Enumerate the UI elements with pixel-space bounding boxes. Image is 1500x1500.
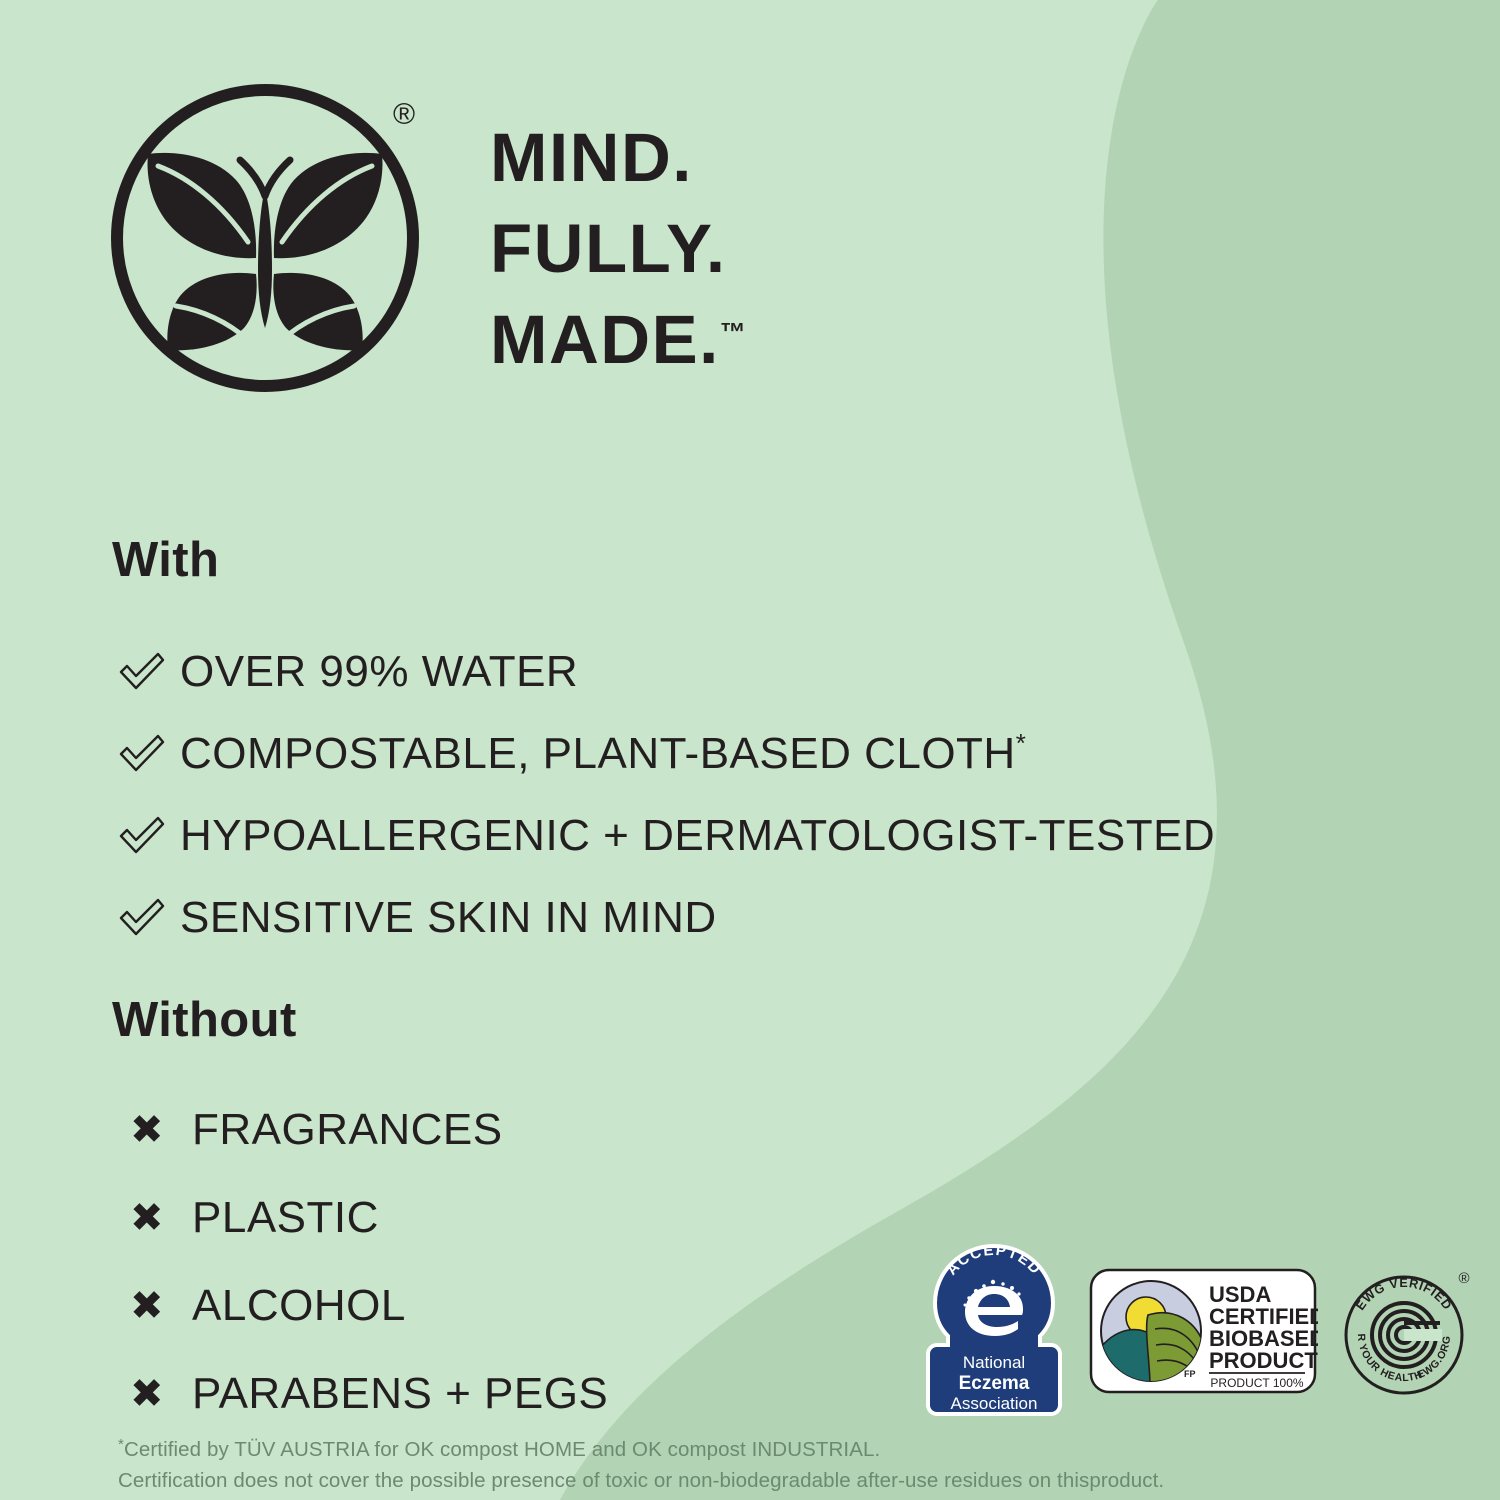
outline-check-icon <box>118 731 180 775</box>
list-item: OVER 99% WATER <box>118 630 1215 712</box>
list-item: ✖ PLASTIC <box>130 1174 608 1262</box>
x-mark-icon: ✖ <box>130 1110 192 1150</box>
headline-line-3-text: MADE. <box>490 301 720 378</box>
trademark-icon: ™ <box>720 317 746 347</box>
x-mark-icon: ✖ <box>130 1286 192 1326</box>
footnote-line-2: Certification does not cover the possibl… <box>118 1465 1164 1496</box>
outline-check-icon <box>118 813 180 857</box>
footnote-line-1: *Certified by TÜV AUSTRIA for OK compost… <box>118 1434 1164 1465</box>
promo-graphic: ® MIND. FULLY. MADE.™ With OVER 99% WATE… <box>0 0 1500 1500</box>
list-item-label: FRAGRANCES <box>192 1108 503 1152</box>
usda-certified-biobased-product-seal: FP USDA CERTIFIED BIOBASED PRODUCT PRODU… <box>1088 1267 1318 1395</box>
registered-trademark-icon: ® <box>1458 1270 1469 1287</box>
svg-text:Eczema: Eczema <box>959 1373 1030 1394</box>
national-eczema-association-seal: ACCEPTED National Eczema Association <box>918 1243 1070 1418</box>
with-list: OVER 99% WATER COMPOSTABLE, PLANT-BASED … <box>118 630 1215 958</box>
brand-lockup: ® MIND. FULLY. MADE.™ <box>110 70 746 410</box>
without-list: ✖ FRAGRANCES ✖ PLASTIC ✖ ALCOHOL ✖ PARAB… <box>130 1086 608 1438</box>
list-item-label: OVER 99% WATER <box>180 648 578 694</box>
headline-line-3: MADE.™ <box>490 294 746 385</box>
with-title: With <box>112 536 219 585</box>
x-mark-icon: ✖ <box>130 1374 192 1414</box>
list-item-label: PLASTIC <box>192 1196 379 1240</box>
svg-text:Association: Association <box>951 1394 1038 1413</box>
list-item: SENSITIVE SKIN IN MIND <box>118 876 1215 958</box>
list-item-label: HYPOALLERGENIC + DERMATOLOGIST-TESTED <box>180 812 1215 858</box>
footnote: *Certified by TÜV AUSTRIA for OK compost… <box>118 1434 1164 1496</box>
headline-line-2: FULLY. <box>490 203 746 294</box>
certification-badges: ACCEPTED National Eczema Association <box>918 1243 1476 1418</box>
svg-text:EWG VERIFIED: EWG VERIFIED <box>1353 1275 1455 1312</box>
registered-trademark-icon: ® <box>393 100 415 130</box>
with-section-heading: With <box>112 536 219 585</box>
svg-text:PRODUCT 100%: PRODUCT 100% <box>1210 1376 1303 1390</box>
list-item-label: SENSITIVE SKIN IN MIND <box>180 894 717 940</box>
outline-check-icon <box>118 895 180 939</box>
list-item-label: PARABENS + PEGS <box>192 1372 608 1416</box>
without-title: Without <box>112 996 297 1045</box>
x-mark-icon: ✖ <box>130 1198 192 1238</box>
butterfly-in-circle-icon: ® <box>110 70 430 410</box>
svg-text:National: National <box>963 1353 1025 1372</box>
svg-text:FP: FP <box>1184 1369 1196 1379</box>
headline-line-1: MIND. <box>490 112 746 203</box>
list-item: HYPOALLERGENIC + DERMATOLOGIST-TESTED <box>118 794 1215 876</box>
list-item: ✖ ALCOHOL <box>130 1262 608 1350</box>
headline: MIND. FULLY. MADE.™ <box>490 112 746 385</box>
without-section-heading: Without <box>112 996 297 1045</box>
outline-check-icon <box>118 649 180 693</box>
concentric-e-icon <box>1372 1303 1442 1367</box>
list-item: ✖ FRAGRANCES <box>130 1086 608 1174</box>
list-item-label: COMPOSTABLE, PLANT-BASED CLOTH* <box>180 730 1026 776</box>
list-item: COMPOSTABLE, PLANT-BASED CLOTH* <box>118 712 1215 794</box>
ewg-verified-seal: EWG VERIFIED FOR YOUR HEALTH EWG.ORG <box>1336 1261 1476 1401</box>
svg-text:PRODUCT: PRODUCT <box>1209 1348 1318 1373</box>
list-item: ✖ PARABENS + PEGS <box>130 1350 608 1438</box>
list-item-label: ALCOHOL <box>192 1284 406 1328</box>
